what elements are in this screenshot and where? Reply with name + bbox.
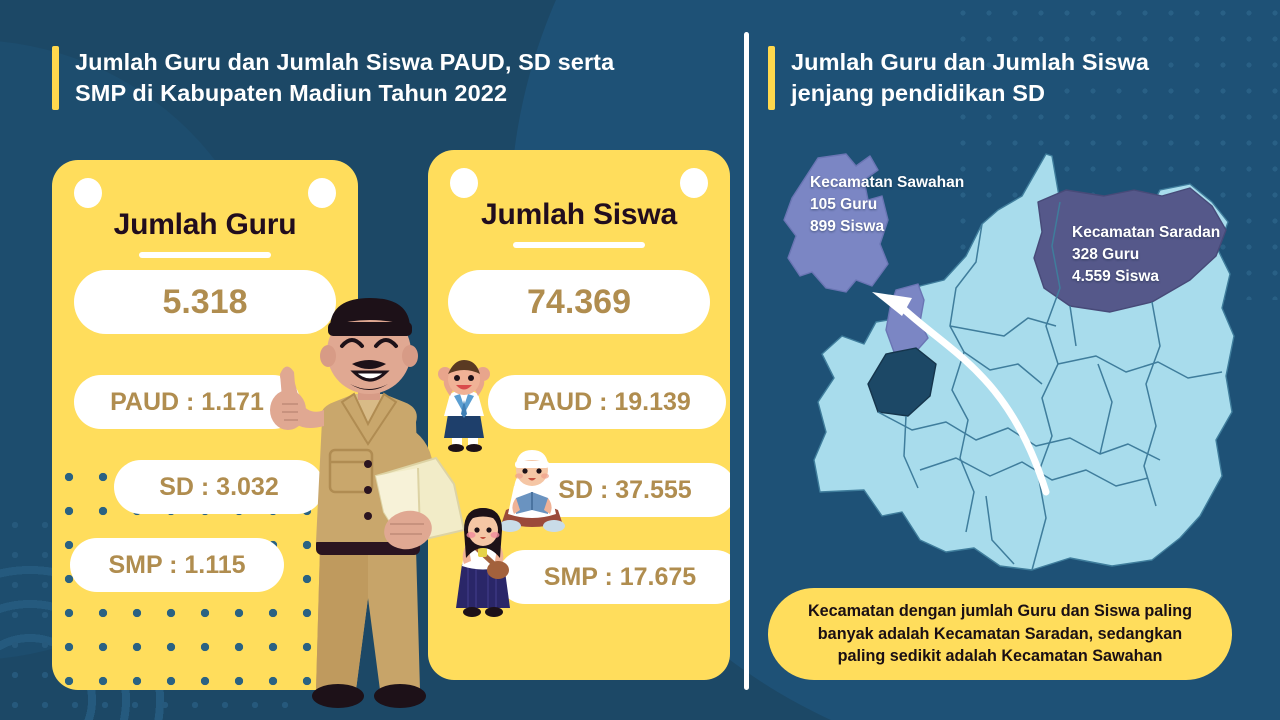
siswa-smp-pill: SMP : 17.675 <box>498 550 730 604</box>
siswa-total-pill: 74.369 <box>448 270 710 334</box>
infographic-canvas: Jumlah Guru dan Jumlah Siswa PAUD, SD se… <box>0 0 1280 720</box>
right-heading-text: Jumlah Guru dan Jumlah Siswa jenjang pen… <box>791 46 1149 110</box>
card-punch-hole-left <box>450 168 478 198</box>
map-label-saradan: Kecamatan Saradan 328 Guru 4.559 Siswa <box>1072 222 1220 288</box>
student-smp-illustration <box>448 508 518 620</box>
heading-accent-bar <box>768 46 775 110</box>
left-heading-text: Jumlah Guru dan Jumlah Siswa PAUD, SD se… <box>75 46 614 110</box>
heading-accent-bar <box>52 46 59 110</box>
card-title-underline <box>513 242 645 248</box>
siswa-paud-pill: PAUD : 19.139 <box>488 375 726 429</box>
left-panel-heading: Jumlah Guru dan Jumlah Siswa PAUD, SD se… <box>52 46 712 110</box>
card-title-jumlah-guru: Jumlah Guru <box>52 208 358 242</box>
card-punch-hole-left <box>74 178 102 208</box>
panel-divider <box>744 32 749 690</box>
student-paud-illustration <box>428 360 500 452</box>
card-title-underline <box>139 252 271 258</box>
guru-smp-pill: SMP : 1.115 <box>70 538 284 592</box>
right-panel-heading: Jumlah Guru dan Jumlah Siswa jenjang pen… <box>768 46 1238 110</box>
map-summary-caption-text: Kecamatan dengan jumlah Guru dan Siswa p… <box>808 600 1192 667</box>
map-summary-caption-box: Kecamatan dengan jumlah Guru dan Siswa p… <box>768 588 1232 680</box>
map-label-sawahan: Kecamatan Sawahan 105 Guru 899 Siswa <box>810 172 964 238</box>
card-title-jumlah-siswa: Jumlah Siswa <box>428 198 730 232</box>
card-punch-hole-right <box>680 168 708 198</box>
card-punch-hole-right <box>308 178 336 208</box>
